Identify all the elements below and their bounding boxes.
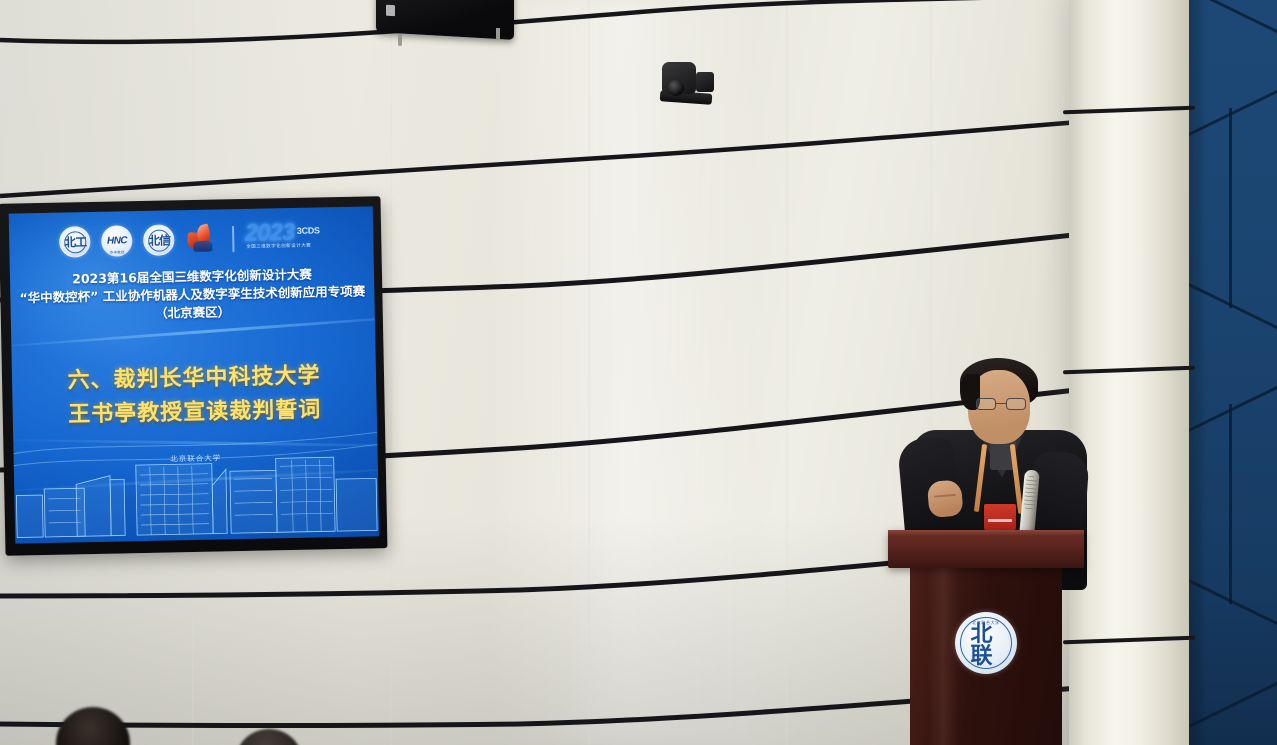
projection-screen[interactable]: 北工 HNC 华中数控 北信 — [0, 196, 387, 556]
badge-text-line — [988, 519, 1012, 522]
speaker-brand-icon — [386, 5, 395, 17]
flame-torch-logo — [185, 224, 222, 255]
ceiling-camera-icon — [660, 60, 718, 108]
camera-lens-icon — [668, 80, 684, 96]
blue-acoustic-panel-wall — [1185, 0, 1277, 745]
university-emblem-mark: 北工 — [64, 236, 86, 248]
hex-seam — [1229, 404, 1232, 604]
glasses-lens-right — [1006, 398, 1026, 410]
podium-sheen — [928, 568, 958, 745]
cds-acronym: 3CDS — [297, 225, 320, 235]
screen-bezel: 北工 HNC 华中数控 北信 — [0, 196, 387, 556]
university-emblem-logo: 北工 — [59, 226, 91, 258]
speaker-bracket — [398, 34, 402, 46]
slide-surface: 北工 HNC 华中数控 北信 — [9, 206, 380, 543]
glasses-bridge — [996, 403, 1006, 404]
hnc-logo: HNC 华中数控 — [101, 225, 133, 257]
podium-emblem-mark: 北联 — [971, 623, 1002, 667]
year-3cds-logo: 2023 3CDS 全国三维数字化创新设计大赛 — [245, 221, 324, 254]
beijing-institute-logo: 北信 — [143, 224, 175, 256]
flame-base — [194, 240, 213, 251]
logo-divider — [232, 226, 234, 252]
name-badge — [984, 504, 1016, 530]
column-seam — [1063, 106, 1195, 115]
podium-edge — [888, 530, 1084, 535]
year-logo-subtitle: 全国三维数字化创新设计大赛 — [246, 243, 311, 250]
camera-housing — [696, 72, 714, 92]
speaker-bracket — [496, 28, 500, 40]
slide-logo-bar: 北工 HNC 华中数控 北信 — [9, 220, 374, 258]
campus-skyline-graphic: 北京联合大学 — [13, 426, 379, 543]
podium-university-emblem: 北京联合大学 北联 — [955, 612, 1017, 674]
podium-emblem-ring-text: 北京联合大学 — [955, 620, 1017, 626]
podium: 北京联合大学 北联 — [888, 530, 1084, 745]
glasses-lens-left — [976, 398, 996, 410]
beijing-institute-mark: 北信 — [148, 235, 170, 247]
slide-title-block: 2023第16届全国三维数字化创新设计大赛 “华中数控杯” 工业协作机器人及数字… — [10, 264, 375, 326]
photo-scene: 北工 HNC 华中数控 北信 — [0, 0, 1277, 745]
raised-fist-icon — [927, 479, 964, 518]
hnc-logo-subtext: 华中数控 — [102, 249, 133, 255]
glasses-icon — [976, 398, 1026, 410]
podium-top-surface — [888, 530, 1084, 568]
hex-seam — [1229, 108, 1232, 308]
hnc-logo-text: HNC — [107, 235, 127, 246]
slide-headline-block: 六、裁判长华中科技大学 王书亭教授宣读裁判誓词 — [12, 358, 377, 433]
